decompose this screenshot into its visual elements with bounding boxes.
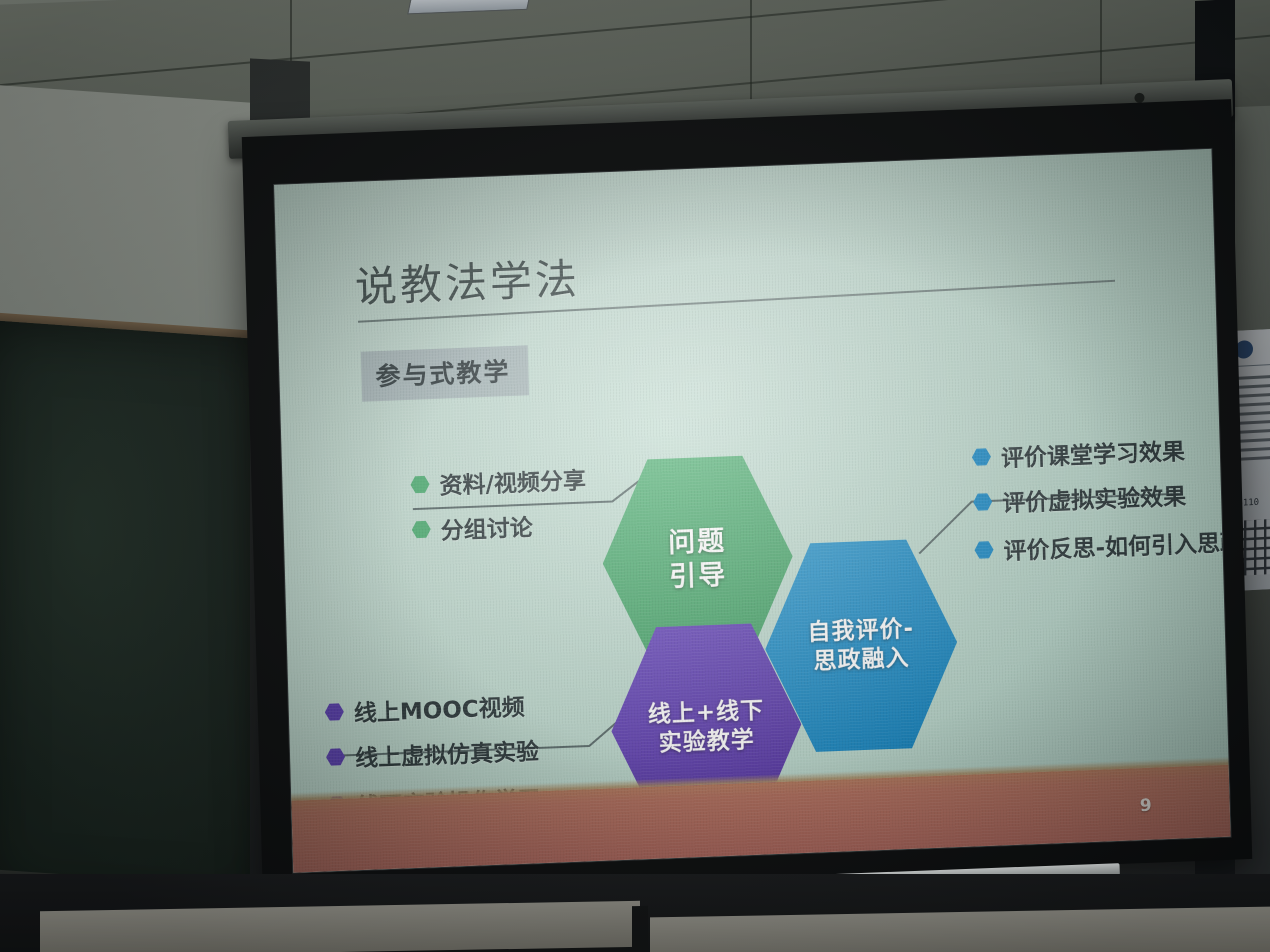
hexagon-bullet-icon [412,520,431,539]
list-item: 评价反思-如何引入思政 [974,523,1231,567]
hexagon-blue-line2: 思政融入 [813,644,910,676]
hexagon-bullet-icon [973,493,992,512]
hexagon-bullet-icon [972,448,991,467]
projection-screen: 说教法学法 参与式教学 问题 引导 [242,99,1252,897]
hexagon-blue-line1: 自我评价- [807,615,914,648]
slide-page-number: 9 [1140,796,1152,816]
bullet-group-blue: 评价课堂学习效果 评价虚拟实验效果 评价反思-如何引入思政 [971,430,1230,578]
screen-bezel: 说教法学法 参与式教学 问题 引导 [273,148,1232,874]
hexagon-bullet-icon [325,703,344,722]
classroom-photo-scene: 66110 说教法学法 参与式教学 [0,0,1270,952]
desk-gap [632,906,648,952]
hexagon-green-line2: 引导 [669,559,728,595]
bullet-label: 评价课堂学习效果 [1000,432,1185,473]
bullet-label: 资料/视频分享 [439,461,586,501]
bullet-label: 评价虚拟实验效果 [1002,477,1187,518]
hexagon-green-line1: 问题 [668,525,727,561]
bullet-label: 线上虚拟仿真实验 [355,732,540,773]
page-title: 说教法学法 [354,245,581,315]
list-item: 分组讨论 [411,506,587,547]
hexagon-bullet-icon [326,748,345,767]
blackboard [0,320,280,921]
hexagon-bullet-icon [410,475,429,494]
bullet-group-green: 资料/视频分享 分组讨论 [410,461,588,558]
bullet-label: 评价反思-如何引入思政 [1003,523,1231,566]
hexagon-purple-line2: 实验教学 [658,726,755,758]
bullet-label: 分组讨论 [440,508,533,546]
slide-surface: 说教法学法 参与式教学 问题 引导 [274,149,1231,873]
subtitle-chip: 参与式教学 [361,345,529,401]
presentation-slide: 说教法学法 参与式教学 问题 引导 [274,149,1231,873]
list-item: 资料/视频分享 [410,461,586,502]
list-item: 线上MOOC视频 [324,687,538,729]
list-item: 评价课堂学习效果 [971,430,1230,474]
hexagon-bullet-icon [974,541,993,560]
list-item: 线上虚拟仿真实验 [326,732,540,774]
list-item: 评价虚拟实验效果 [973,475,1231,519]
bullet-label: 线上MOOC视频 [353,688,525,729]
hexagon-purple-line1: 线上+线下 [648,697,765,730]
